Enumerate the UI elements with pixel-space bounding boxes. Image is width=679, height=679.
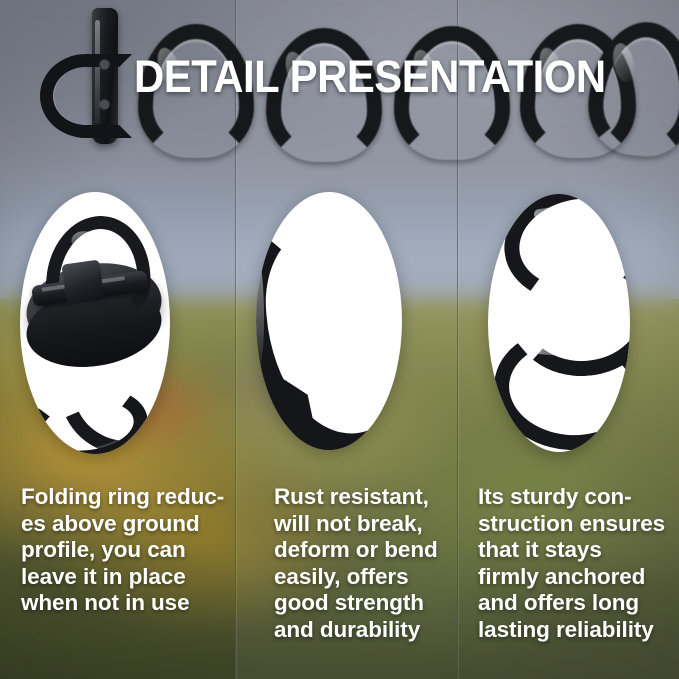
detail-presentation-banner: DETAIL PRESENTATION Folding ring reduc- … bbox=[0, 0, 679, 679]
caption-row: Folding ring reduc- es above ground prof… bbox=[0, 484, 679, 643]
caption-folding-ring: Folding ring reduc- es above ground prof… bbox=[0, 484, 235, 643]
coil-highlight bbox=[533, 201, 591, 220]
anchor-bolt bbox=[100, 100, 109, 109]
page-title: DETAIL PRESENTATION bbox=[134, 52, 606, 102]
anchor-bolt bbox=[100, 60, 109, 69]
detail-oval-sturdy-construction bbox=[488, 194, 630, 452]
header-banner: DETAIL PRESENTATION bbox=[0, 0, 679, 175]
caption-sturdy-construction: Its sturdy con- struction ensures that i… bbox=[457, 484, 679, 643]
caption-rust-resistant: Rust resistant, will not break, deform o… bbox=[235, 484, 457, 643]
anchor-clip bbox=[61, 260, 104, 305]
coil-highlight bbox=[532, 343, 590, 358]
anchor-d-ring bbox=[40, 54, 132, 138]
coil-highlight bbox=[541, 268, 595, 282]
detail-oval-rust-resistant bbox=[256, 192, 402, 450]
detail-oval-folding-ring bbox=[20, 192, 170, 454]
coil-highlight bbox=[555, 407, 606, 422]
